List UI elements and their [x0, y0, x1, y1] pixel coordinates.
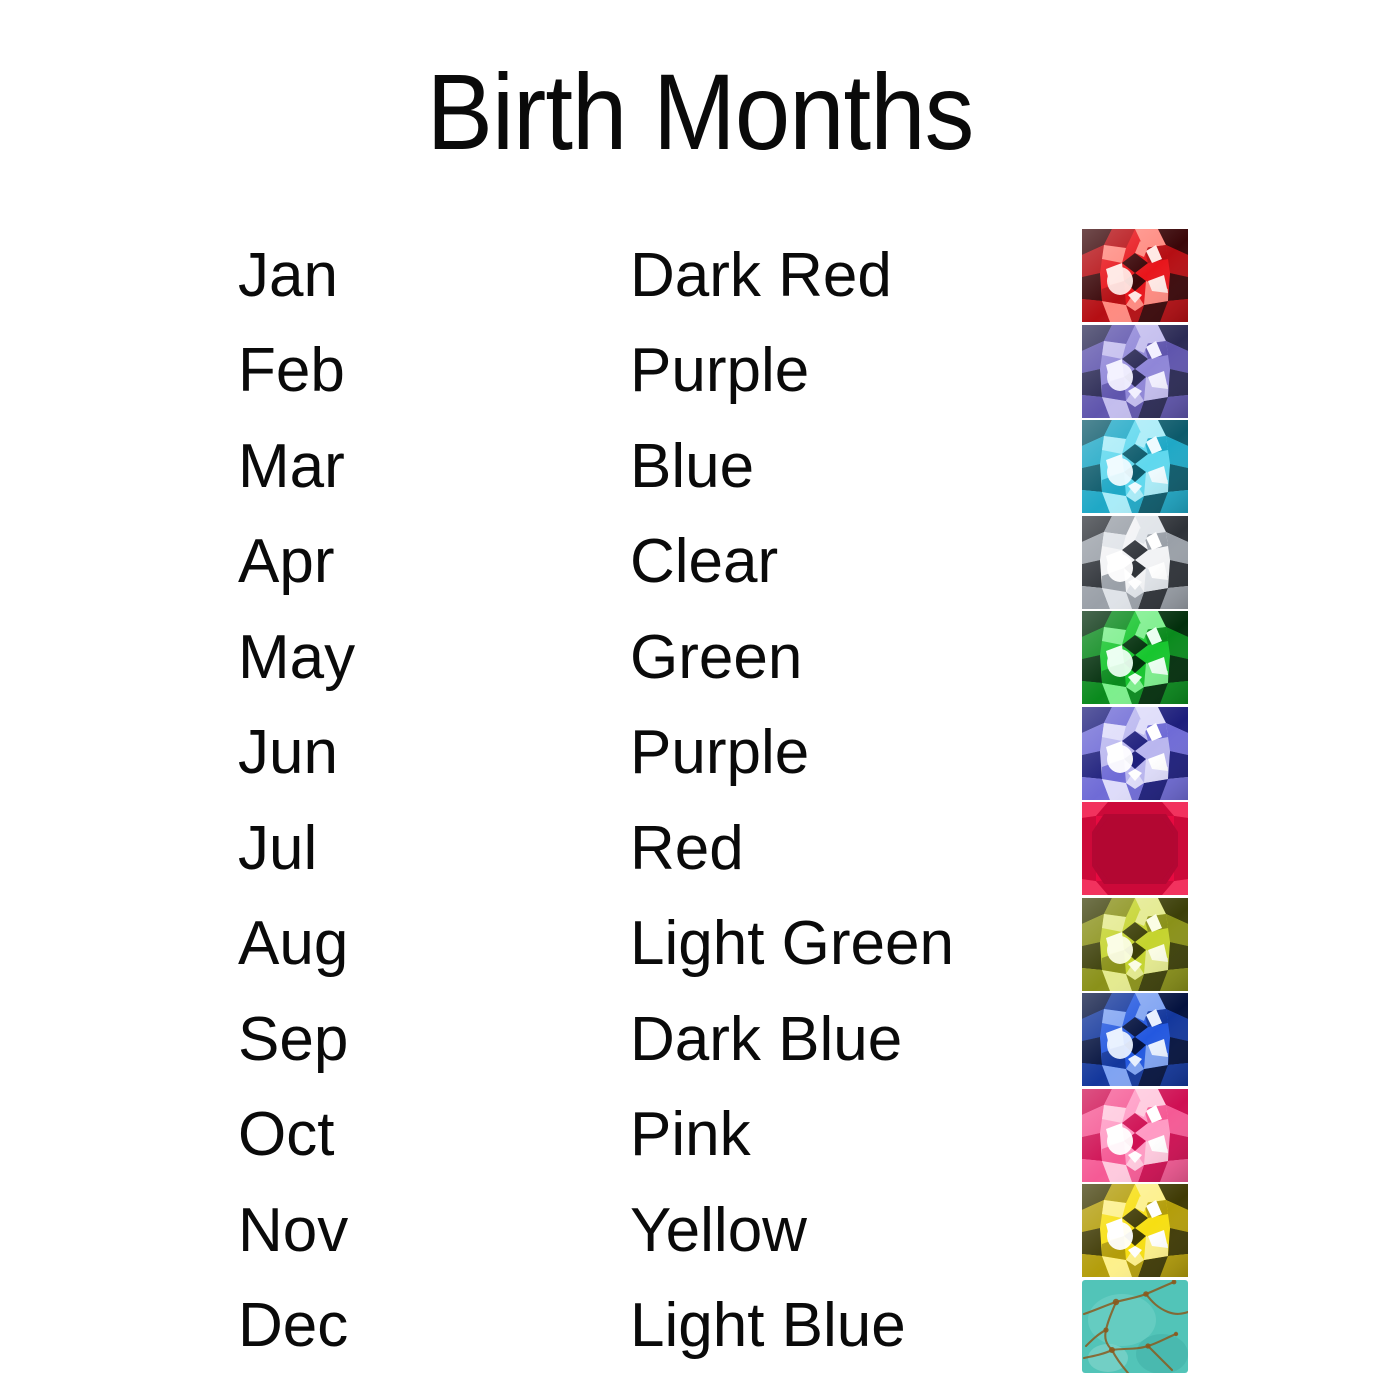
gem-facets — [1082, 516, 1188, 609]
gem-facets — [1082, 325, 1188, 418]
amethyst-gem — [1082, 325, 1188, 418]
birth-months-page: Birth Months JanDark RedFebPurpleMarBlue… — [0, 0, 1400, 1400]
table-row: FebPurple — [0, 324, 1400, 420]
table-row: OctPink — [0, 1088, 1400, 1184]
gem-facets — [1082, 229, 1188, 322]
color-name-label: Light Blue — [630, 1279, 906, 1375]
gem-facets — [1082, 1089, 1188, 1182]
gem-facets — [1082, 1184, 1188, 1277]
table-row: JanDark Red — [0, 228, 1400, 324]
table-row: AprClear — [0, 515, 1400, 611]
month-label: Oct — [238, 1088, 334, 1184]
table-row: NovYellow — [0, 1183, 1400, 1279]
table-row: MayGreen — [0, 610, 1400, 706]
month-label: Mar — [238, 419, 345, 515]
color-name-label: Red — [630, 801, 744, 897]
gem-matrix — [1082, 1280, 1188, 1373]
birth-months-table: JanDark RedFebPurpleMarBlueAprClearMayGr… — [0, 228, 1400, 1374]
color-name-label: Dark Red — [630, 228, 892, 324]
table-row: MarBlue — [0, 419, 1400, 515]
garnet-gem — [1082, 229, 1188, 322]
color-name-label: Purple — [630, 706, 809, 802]
aquamarine-gem — [1082, 420, 1188, 513]
month-label: Apr — [238, 515, 334, 611]
table-row: AugLight Green — [0, 897, 1400, 993]
color-name-label: Dark Blue — [630, 992, 902, 1088]
month-label: Jun — [238, 706, 338, 802]
citrine-gem — [1082, 1184, 1188, 1277]
color-name-label: Clear — [630, 515, 778, 611]
diamond-gem — [1082, 516, 1188, 609]
month-label: Feb — [238, 324, 345, 420]
color-name-label: Green — [630, 610, 802, 706]
month-label: Sep — [238, 992, 348, 1088]
gem-facets — [1082, 802, 1188, 895]
sapphire-gem — [1082, 993, 1188, 1086]
gem-facets — [1082, 993, 1188, 1086]
turquoise-gem — [1082, 1280, 1188, 1373]
month-label: Jan — [238, 228, 338, 324]
month-label: Aug — [238, 897, 348, 993]
color-name-label: Pink — [630, 1088, 751, 1184]
gem-facets — [1082, 611, 1188, 704]
color-name-label: Light Green — [630, 897, 954, 993]
month-label: Nov — [238, 1183, 348, 1279]
table-row: SepDark Blue — [0, 992, 1400, 1088]
table-row: JunPurple — [0, 706, 1400, 802]
emerald-gem — [1082, 611, 1188, 704]
gem-facets — [1082, 420, 1188, 513]
month-label: May — [238, 610, 355, 706]
gem-facets — [1082, 707, 1188, 800]
table-row: JulRed — [0, 801, 1400, 897]
alexandrite-gem — [1082, 707, 1188, 800]
month-label: Dec — [238, 1279, 348, 1375]
month-label: Jul — [238, 801, 317, 897]
gem-facets — [1082, 898, 1188, 991]
color-name-label: Blue — [630, 419, 754, 515]
tourmaline-gem — [1082, 1089, 1188, 1182]
page-title: Birth Months — [56, 52, 1344, 172]
table-row: DecLight Blue — [0, 1279, 1400, 1375]
ruby-gem — [1082, 802, 1188, 895]
color-name-label: Yellow — [630, 1183, 807, 1279]
color-name-label: Purple — [630, 324, 809, 420]
peridot-gem — [1082, 898, 1188, 991]
